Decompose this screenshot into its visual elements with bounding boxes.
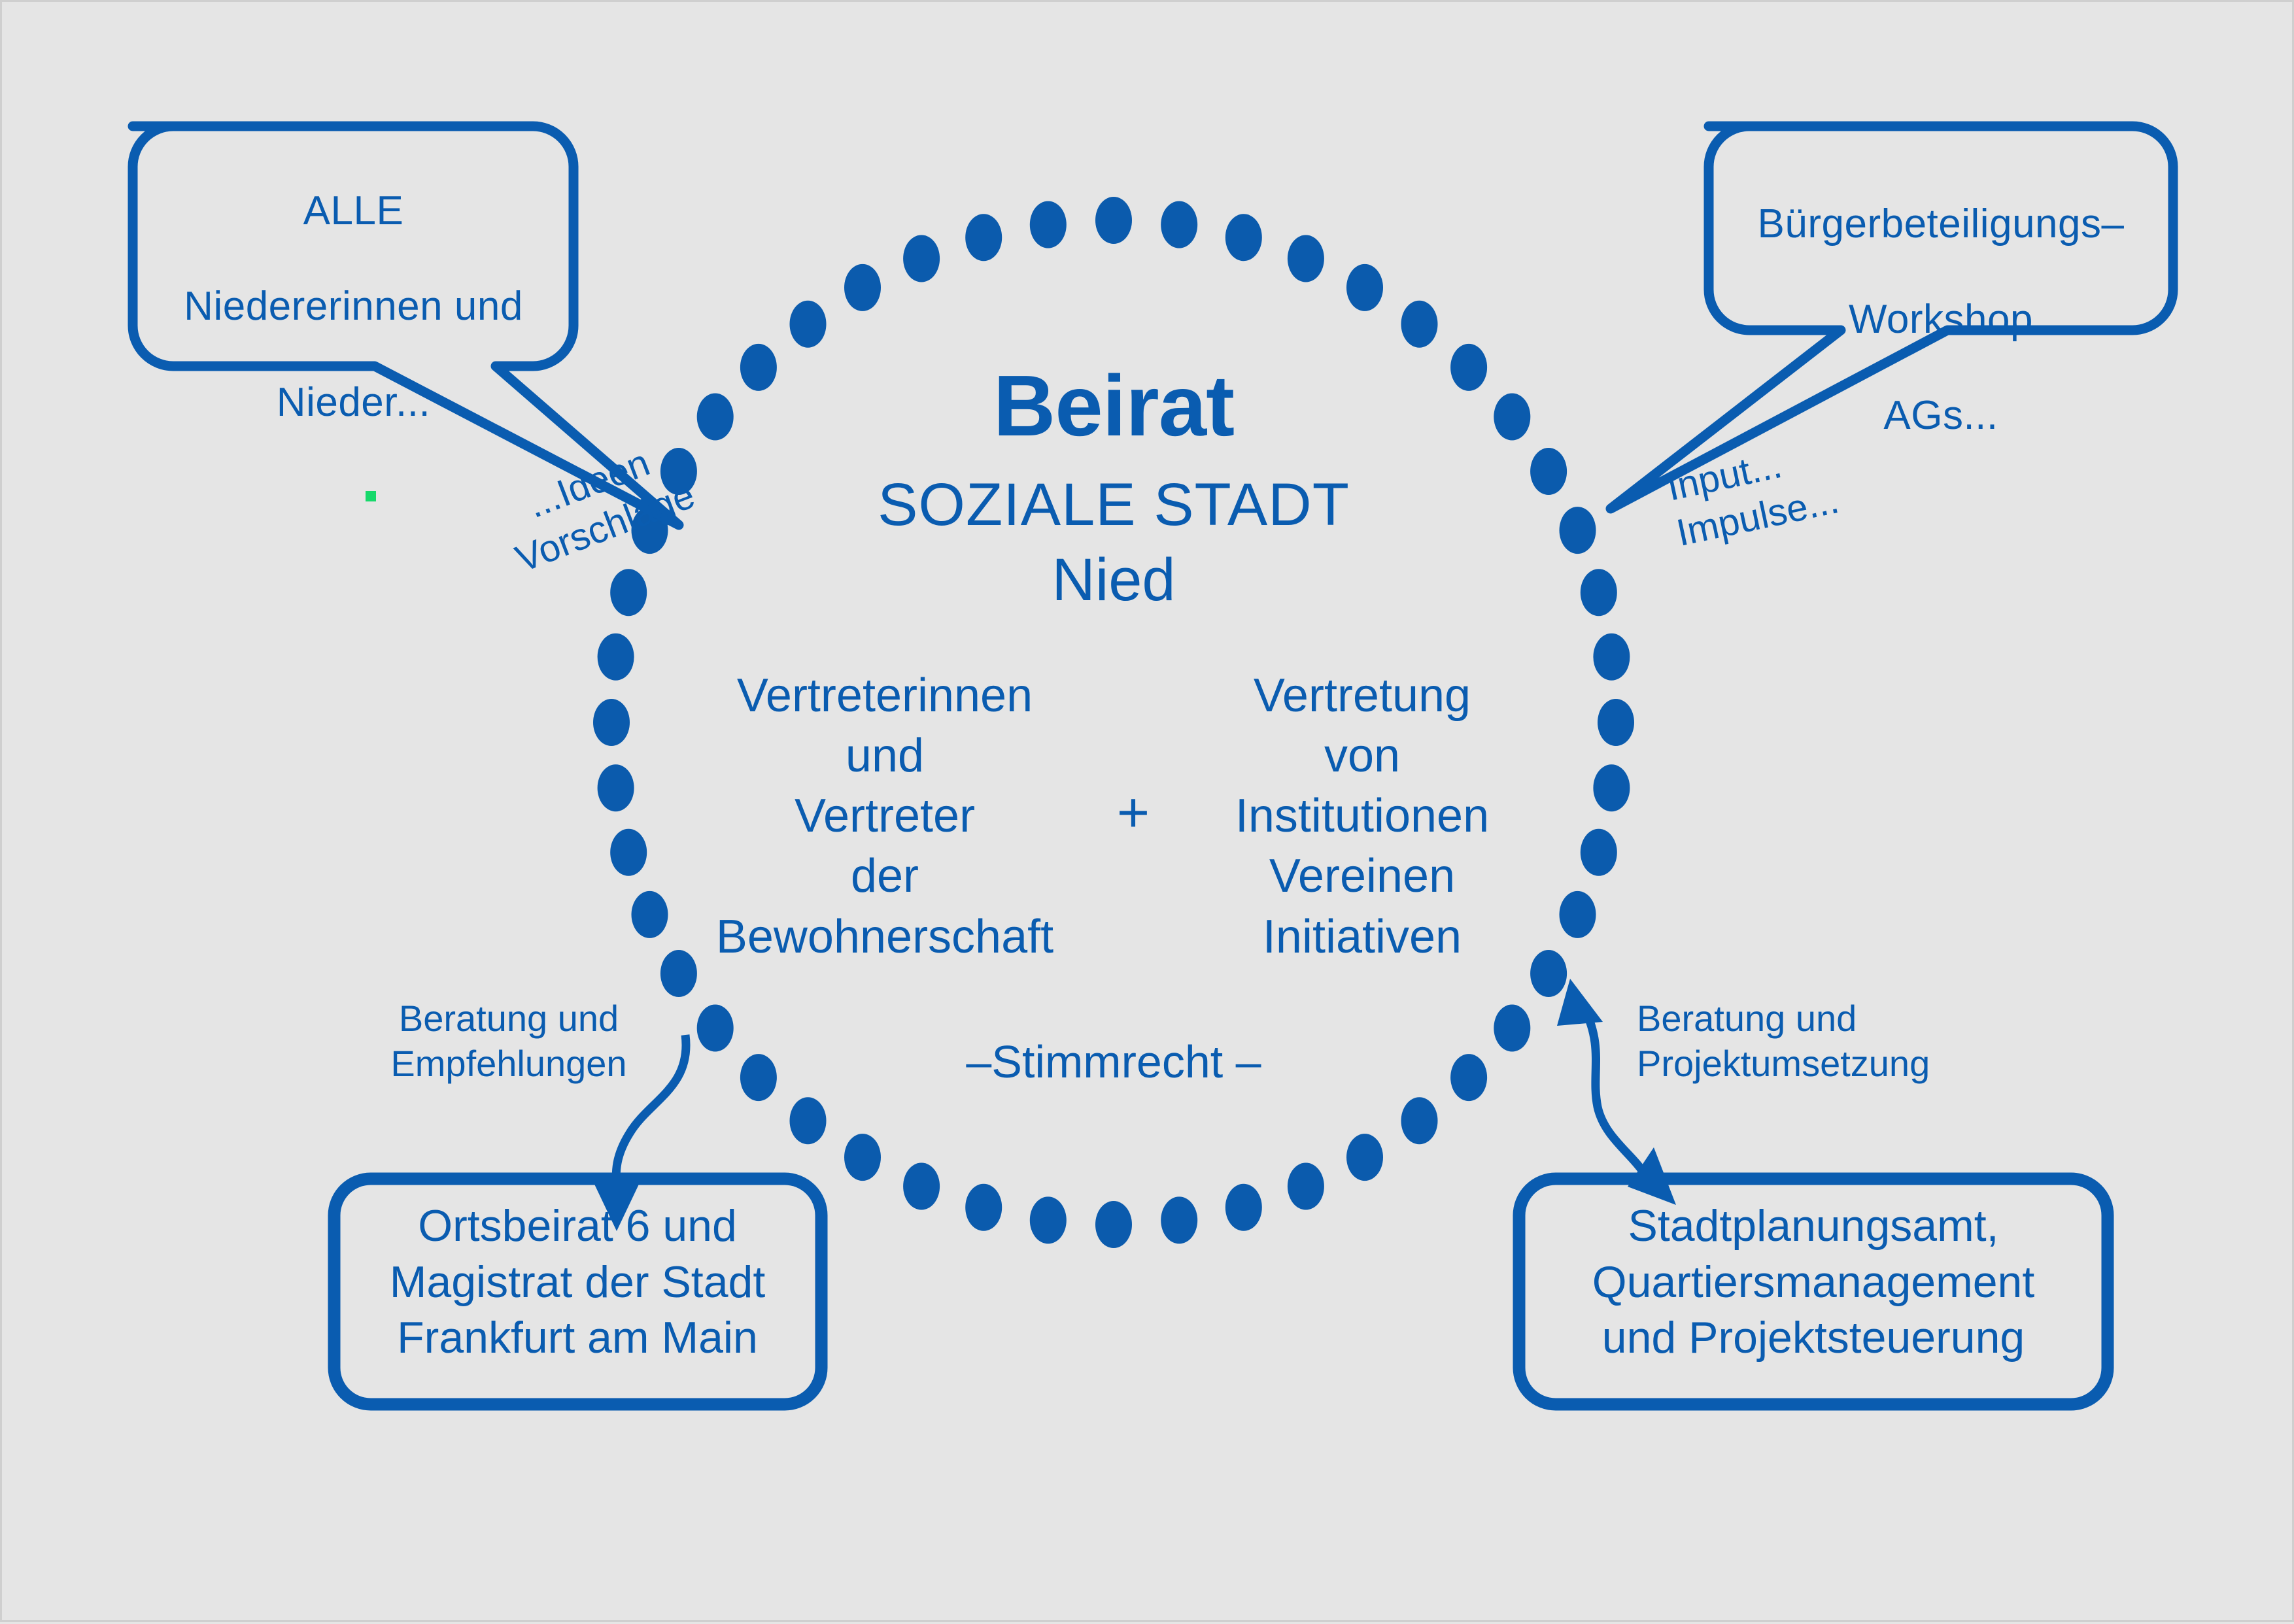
ring-dot: [903, 1163, 940, 1210]
ring-dot: [1225, 1184, 1262, 1231]
ring-dot: [697, 1005, 734, 1052]
ring-dot: [598, 764, 634, 811]
ring-dot: [632, 891, 668, 938]
center-footer-stimmrecht: –Stimmrecht –: [917, 1035, 1310, 1089]
bubble-top-right-line2: Workshop: [1712, 296, 2170, 343]
ring-dot: [903, 235, 940, 282]
ring-dot: [1030, 201, 1067, 248]
ring-dot: [1346, 1134, 1383, 1181]
ring-dot: [1494, 394, 1530, 441]
ring-dot: [790, 1097, 827, 1144]
bubble-top-right-line1: Bürgerbeteiligungs–: [1712, 200, 2170, 248]
bubble-top-right-text: Bürgerbeteiligungs– Workshop AGs...: [1712, 152, 2170, 487]
ring-dot: [1494, 1005, 1530, 1052]
diagram-canvas: ALLE Niedererinnen und Nieder... Bürgerb…: [0, 0, 2294, 1622]
ring-dot: [1560, 507, 1596, 554]
ring-dot: [1288, 1163, 1324, 1210]
ring-dot: [965, 1184, 1002, 1231]
bubble-top-left-line1: ALLE: [133, 187, 574, 235]
green-marker-dot: [366, 491, 376, 501]
ring-dot: [1288, 235, 1324, 282]
ring-dot: [740, 1054, 777, 1101]
ring-dot: [1593, 764, 1630, 811]
bubble-top-left-text: ALLE Niedererinnen und Nieder...: [133, 139, 574, 474]
ring-dot: [844, 1134, 881, 1181]
ring-dot: [1560, 891, 1596, 938]
center-column-right: Vertretung von Institutionen Vereinen In…: [1179, 666, 1545, 967]
ring-dot: [1581, 569, 1617, 616]
box-bottom-right-text: Stadtplanungsamt, Quartiersmanagement un…: [1526, 1198, 2101, 1366]
ring-dot: [1161, 201, 1197, 248]
ring-dot: [1450, 1054, 1487, 1101]
ring-dot: [1530, 448, 1567, 495]
ring-dot: [1346, 264, 1383, 311]
annotation-beratung-projektumsetzung: Beratung und Projektumsetzung: [1637, 996, 1977, 1087]
ring-dot: [593, 699, 630, 746]
ring-dot: [844, 264, 881, 311]
ring-dot: [1095, 197, 1132, 244]
center-plus-operator: +: [1087, 780, 1179, 846]
bubble-top-right-line3: AGs...: [1712, 392, 2170, 439]
ring-dot: [1401, 301, 1438, 348]
ring-dot: [598, 634, 634, 681]
ring-dot: [1581, 829, 1617, 876]
ring-dot: [1161, 1196, 1197, 1243]
center-subtitle-line1: SOZIALE STADT: [780, 469, 1447, 541]
ring-dot: [965, 214, 1002, 261]
ring-dot: [610, 569, 647, 616]
ring-dot: [610, 829, 647, 876]
center-title: Beirat: [780, 355, 1447, 457]
ring-dot: [740, 344, 777, 391]
bubble-top-left-line2: Niedererinnen und: [133, 282, 574, 330]
ring-dot: [1095, 1201, 1132, 1248]
center-subtitle-line2: Nied: [780, 545, 1447, 616]
ring-dot: [1593, 634, 1630, 681]
ring-dot: [1450, 344, 1487, 391]
box-bottom-left-text: Ortsbeirat 6 und Magistrat der Stadt Fra…: [342, 1198, 813, 1366]
bubble-top-left-line3: Nieder...: [133, 379, 574, 426]
ring-dot: [1030, 1196, 1067, 1243]
ring-dot: [1225, 214, 1262, 261]
ring-dot: [790, 301, 827, 348]
center-column-left: Vertreterinnen und Vertreter der Bewohne…: [682, 666, 1087, 967]
annotation-beratung-empfehlungen: Beratung und Empfehlungen: [368, 996, 649, 1087]
ring-dot: [1598, 699, 1634, 746]
ring-dot: [1401, 1097, 1438, 1144]
